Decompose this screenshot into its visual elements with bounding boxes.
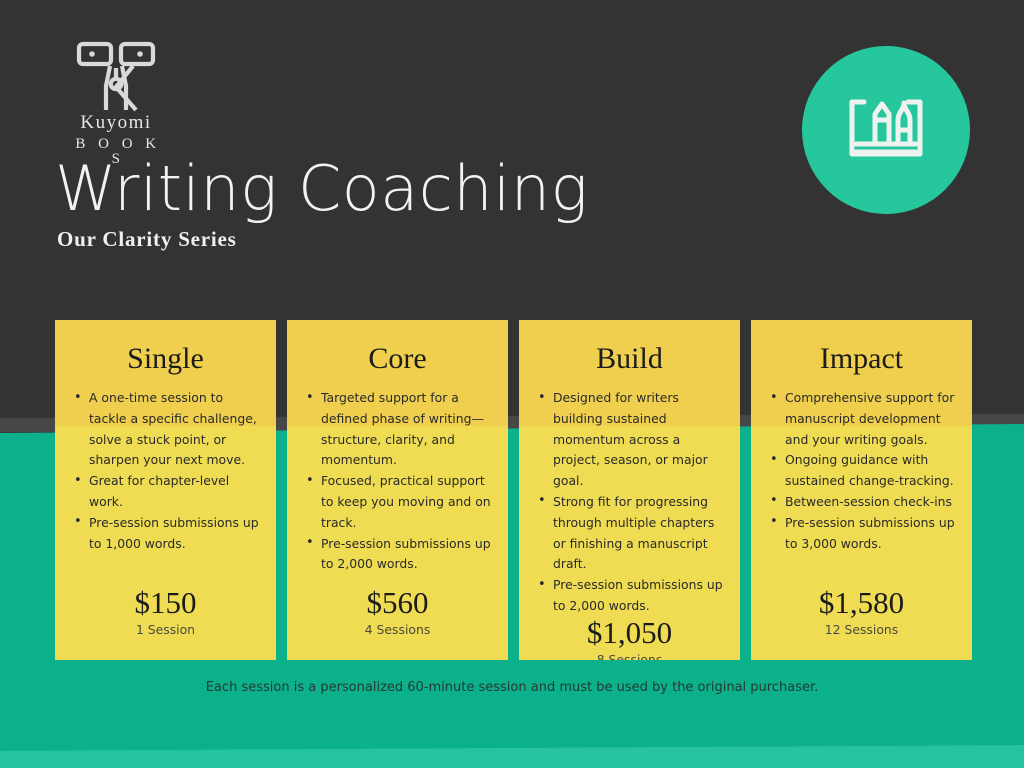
card-feature: Between-session check-ins bbox=[769, 492, 958, 513]
card-sessions: 1 Session bbox=[55, 624, 276, 636]
card-title: Build bbox=[519, 344, 740, 374]
book-pencil-brush-icon bbox=[842, 86, 930, 174]
card-price-block: $1,580 12 Sessions bbox=[751, 587, 972, 660]
card-feature-list: Designed for writers building sustained … bbox=[519, 388, 740, 617]
card-price-block: $150 1 Session bbox=[55, 587, 276, 660]
brand-logo: Kuyomi B O O K S bbox=[70, 40, 162, 152]
pricing-card-list: Single A one-time session to tackle a sp… bbox=[55, 320, 972, 660]
card-price: $560 bbox=[287, 587, 508, 618]
card-price: $1,580 bbox=[751, 587, 972, 618]
card-feature: Designed for writers building sustained … bbox=[537, 388, 726, 492]
pricing-card-core[interactable]: Core Targeted support for a defined phas… bbox=[287, 320, 508, 660]
footer-note: Each session is a personalized 60-minute… bbox=[0, 681, 1024, 694]
card-feature: Great for chapter-level work. bbox=[73, 471, 262, 513]
card-feature: Focused, practical support to keep you m… bbox=[305, 471, 494, 533]
brand-name: Kuyomi bbox=[70, 113, 162, 132]
card-price-block: $560 4 Sessions bbox=[287, 587, 508, 660]
card-sessions: 4 Sessions bbox=[287, 624, 508, 636]
card-feature: Strong fit for progressing through multi… bbox=[537, 492, 726, 575]
card-price: $1,050 bbox=[519, 617, 740, 648]
card-feature: Comprehensive support for manuscript dev… bbox=[769, 388, 958, 450]
card-feature: Targeted support for a defined phase of … bbox=[305, 388, 494, 471]
kuyomi-k-book-logo-icon bbox=[70, 40, 162, 112]
card-price-block: $1,050 8 Sessions bbox=[519, 617, 740, 660]
card-title: Core bbox=[287, 344, 508, 374]
card-feature: Pre-session submissions up to 3,000 word… bbox=[769, 513, 958, 555]
card-sessions: 8 Sessions bbox=[519, 654, 740, 660]
card-feature: Pre-session submissions up to 1,000 word… bbox=[73, 513, 262, 555]
card-title: Single bbox=[55, 344, 276, 374]
page-title: Writing Coaching bbox=[55, 158, 588, 220]
card-feature-list: A one-time session to tackle a specific … bbox=[55, 388, 276, 587]
card-feature: Pre-session submissions up to 2,000 word… bbox=[305, 534, 494, 576]
card-title: Impact bbox=[751, 344, 972, 374]
pricing-poster: Kuyomi B O O K S Writing Coaching Our Cl… bbox=[0, 0, 1024, 768]
card-feature: Pre-session submissions up to 2,000 word… bbox=[537, 575, 726, 617]
card-feature-list: Targeted support for a defined phase of … bbox=[287, 388, 508, 587]
page-subtitle: Our Clarity Series bbox=[57, 229, 237, 250]
card-price: $150 bbox=[55, 587, 276, 618]
pricing-card-impact[interactable]: Impact Comprehensive support for manuscr… bbox=[751, 320, 972, 660]
badge-circle bbox=[802, 46, 970, 214]
pricing-card-single[interactable]: Single A one-time session to tackle a sp… bbox=[55, 320, 276, 660]
card-feature: A one-time session to tackle a specific … bbox=[73, 388, 262, 471]
card-feature: Ongoing guidance with sustained change-t… bbox=[769, 450, 958, 492]
card-feature-list: Comprehensive support for manuscript dev… bbox=[751, 388, 972, 587]
pricing-card-build[interactable]: Build Designed for writers building sust… bbox=[519, 320, 740, 660]
card-sessions: 12 Sessions bbox=[751, 624, 972, 636]
